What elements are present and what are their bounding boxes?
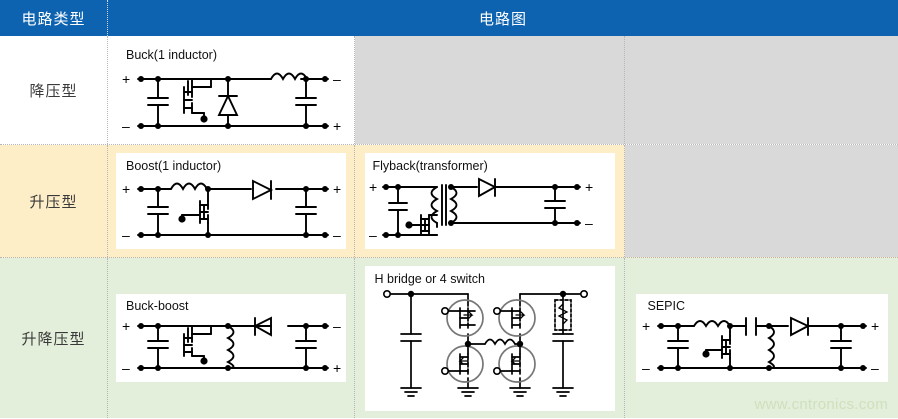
svg-text:+: + — [369, 179, 377, 195]
cell-buck-empty-3 — [625, 36, 898, 144]
figure-h-bridge: H bridge or 4 switch — [365, 266, 615, 411]
svg-text:+: + — [585, 179, 593, 195]
cell-buck-diagram: Buck(1 inductor) — [108, 36, 355, 144]
row-cells-buck: Buck(1 inductor) — [108, 36, 898, 144]
svg-text:–: – — [122, 227, 130, 243]
figure-buck: Buck(1 inductor) — [116, 41, 346, 140]
svg-text:–: – — [871, 360, 879, 376]
circuit-topology-table: 电路类型 电路图 降压型 Buck(1 inductor) — [0, 0, 898, 419]
row-cells-boost: Boost(1 inductor) — [108, 145, 898, 257]
svg-text:–: – — [642, 360, 650, 376]
table-header-row: 电路类型 电路图 — [0, 0, 898, 36]
svg-text:+: + — [122, 318, 130, 334]
caption-buck: Buck(1 inductor) — [126, 48, 217, 62]
terminal-in-top: + — [122, 71, 130, 87]
row-label-buck: 降压型 — [0, 36, 108, 144]
cell-buck-empty-2 — [355, 36, 625, 144]
cell-flyback-diagram: Flyback(transformer) — [355, 145, 625, 257]
header-circuit-type: 电路类型 — [0, 0, 108, 36]
terminal-in-bot: – — [122, 118, 130, 134]
cell-boost-diagram: Boost(1 inductor) — [108, 145, 355, 257]
figure-sepic: SEPIC — [636, 294, 888, 382]
cell-sepic-diagram: SEPIC — [625, 258, 898, 418]
cell-hbridge-diagram: H bridge or 4 switch — [355, 258, 625, 418]
caption-h-bridge: H bridge or 4 switch — [375, 272, 485, 286]
row-label-buck-boost: 升降压型 — [0, 258, 108, 418]
caption-boost: Boost(1 inductor) — [126, 159, 221, 173]
row-label-boost: 升压型 — [0, 145, 108, 257]
terminal-out-bot: + — [333, 118, 341, 134]
caption-flyback: Flyback(transformer) — [373, 159, 488, 173]
svg-text:–: – — [369, 227, 377, 243]
row-cells-buck-boost: Buck-boost — [108, 258, 898, 418]
table-row-buck-boost: 升降压型 Buck-boost — [0, 258, 898, 418]
header-circuit-diagram: 电路图 — [108, 0, 898, 36]
table-row-boost: 升压型 Boost(1 inductor) — [0, 145, 898, 258]
figure-flyback: Flyback(transformer) — [365, 153, 615, 249]
svg-text:+: + — [871, 318, 879, 334]
cell-boost-empty-3 — [625, 145, 898, 257]
svg-text:+: + — [333, 360, 341, 376]
caption-buck-boost: Buck-boost — [126, 299, 189, 313]
terminal-out-top: – — [333, 71, 341, 87]
svg-text:–: – — [122, 360, 130, 376]
svg-text:+: + — [642, 318, 650, 334]
svg-text:–: – — [333, 227, 341, 243]
table-row-buck: 降压型 Buck(1 inductor) — [0, 36, 898, 145]
figure-boost: Boost(1 inductor) — [116, 153, 346, 249]
svg-text:–: – — [333, 318, 341, 334]
svg-text:+: + — [333, 181, 341, 197]
svg-text:–: – — [585, 215, 593, 231]
caption-sepic: SEPIC — [648, 299, 686, 313]
cell-buckboost-diagram: Buck-boost — [108, 258, 355, 418]
svg-text:+: + — [122, 181, 130, 197]
figure-buck-boost: Buck-boost — [116, 294, 346, 382]
